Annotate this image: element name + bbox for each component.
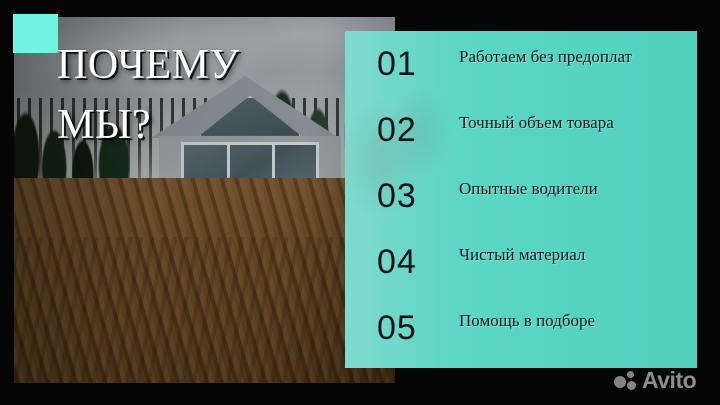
- list-item-number: 05: [377, 309, 441, 347]
- hero-photo: [14, 17, 395, 383]
- list-item: 01 Работаем без предоплат: [377, 45, 687, 101]
- slide-canvas: ПОЧЕМУ МЫ? 01 Работаем без предоплат 02 …: [0, 0, 720, 405]
- list-item-label: Опытные водители: [459, 177, 649, 202]
- list-item-number: 03: [377, 177, 441, 215]
- list-item-label: Чистый материал: [459, 243, 649, 268]
- list-item-label: Помощь в подборе: [459, 309, 649, 334]
- avito-logo-icon: [614, 371, 637, 391]
- list-item-label: Точный объем товара: [459, 111, 649, 136]
- accent-square: [13, 14, 58, 53]
- benefits-list: 01 Работаем без предоплат 02 Точный объе…: [345, 31, 697, 368]
- list-item: 03 Опытные водители: [377, 177, 687, 233]
- list-item-number: 04: [377, 243, 441, 281]
- list-item-number: 02: [377, 111, 441, 149]
- list-item: 02 Точный объем товара: [377, 111, 687, 167]
- avito-wordmark: Avito: [642, 369, 696, 392]
- avito-watermark: Avito: [614, 369, 696, 392]
- list-item-number: 01: [377, 45, 441, 83]
- list-item: 04 Чистый материал: [377, 243, 687, 299]
- photo-tire-tracks-secondary: [14, 237, 395, 383]
- benefits-panel: 01 Работаем без предоплат 02 Точный объе…: [345, 31, 697, 368]
- list-item: 05 Помощь в подборе: [377, 309, 687, 365]
- list-item-label: Работаем без предоплат: [459, 45, 649, 70]
